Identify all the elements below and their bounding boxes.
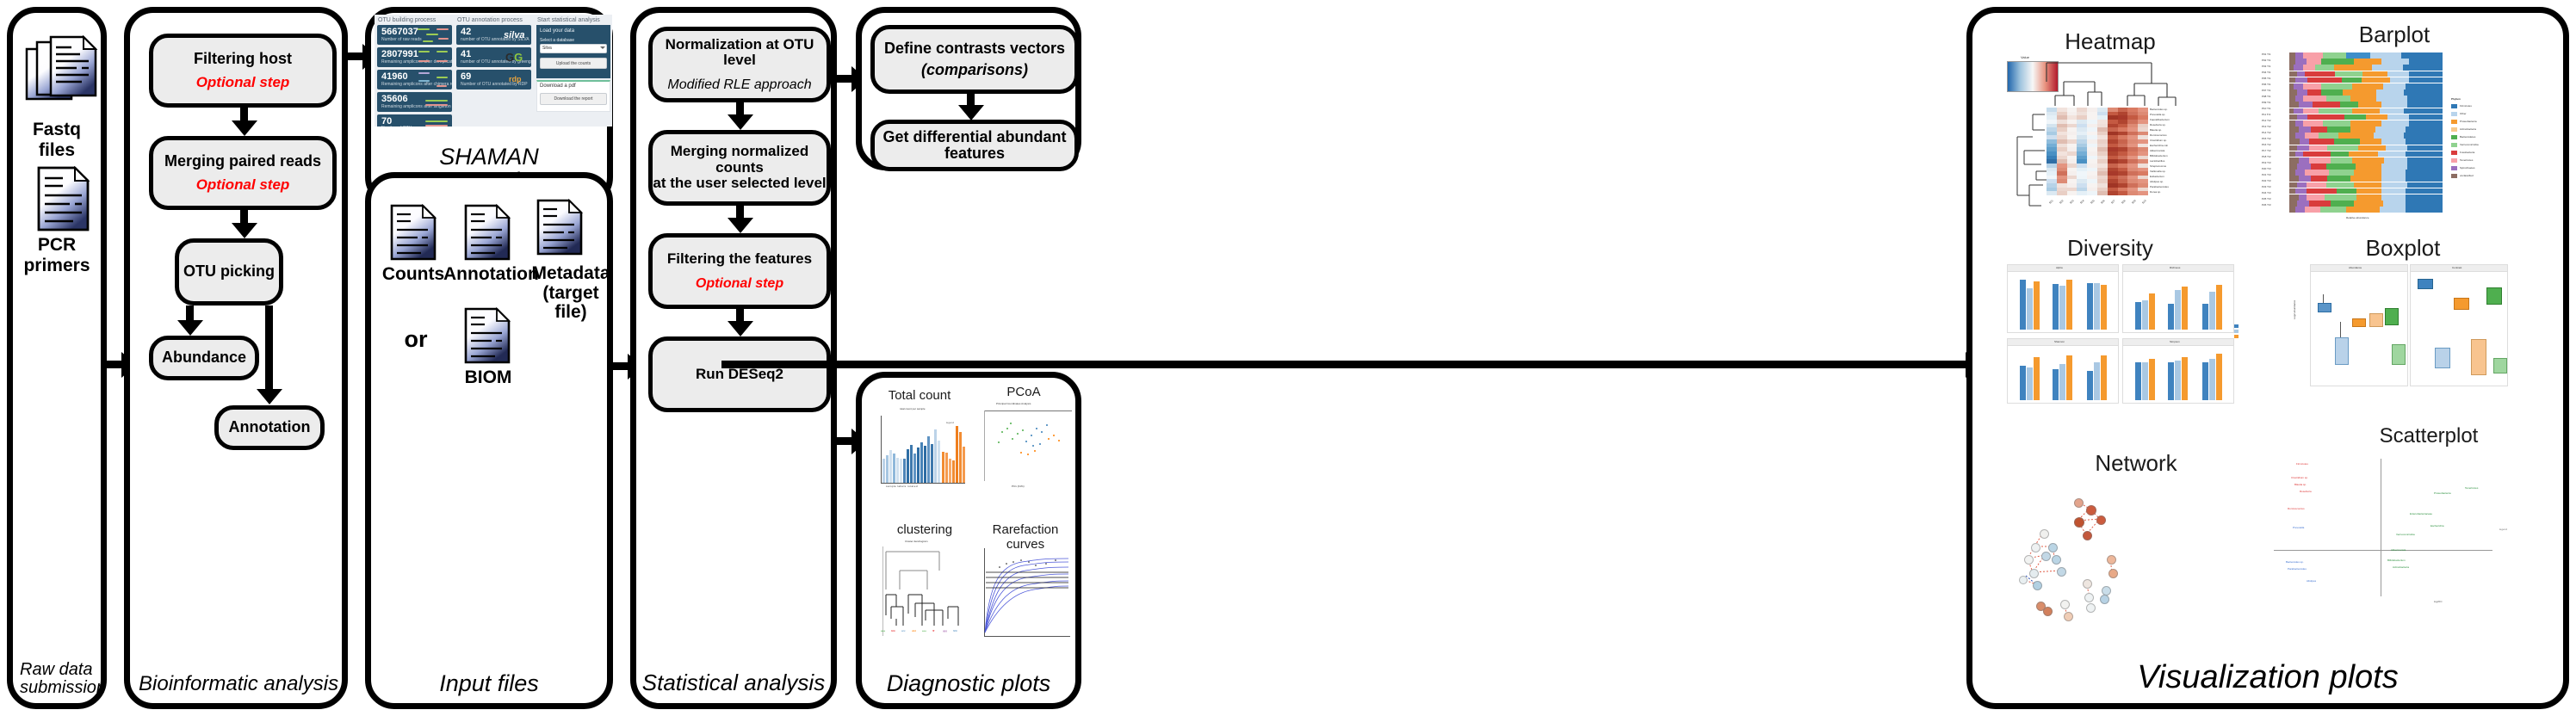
shaman-select-label: Select a database (540, 38, 574, 43)
plot-title-clustering: clustering (877, 522, 972, 537)
plot-pcoa: Principal Coordinates Analysis PC1 (31%) (972, 402, 1075, 502)
biom-file-icon (464, 307, 511, 364)
step-abundance: Abundance (149, 336, 259, 380)
barplot-legend: Phylum Firmicutes Other Proteobacteria A… (2451, 97, 2520, 175)
shaman-otu-card: 41960 Remaining amplicons after chimera … (377, 70, 452, 89)
or-label: or (390, 326, 442, 353)
step-title: Define contrasts vectors (884, 40, 1065, 57)
pcr-label-line2: primers (13, 256, 101, 276)
greengenes-logo-icon: GG (505, 50, 531, 65)
silva-logo-icon: silva (504, 28, 531, 43)
step-sub: Optional step (196, 177, 290, 193)
plot-title-network: Network (2050, 450, 2222, 477)
panel-label-raw-data: Raw data submission (13, 661, 101, 696)
metadata-label-line1: Metadata (526, 264, 616, 284)
metadata-file-icon (536, 199, 583, 256)
card-value: 2807991 (381, 50, 418, 59)
arrow-normalization-to-merging (736, 102, 744, 115)
heatmap-row-labels: Bacteroides sp. Prevotella sp. Faecaliba… (2150, 108, 2196, 195)
step-title: Annotation (229, 419, 311, 435)
plot-title-heatmap: Heatmap (2007, 28, 2214, 55)
workflow-diagram: Fastq files (0, 0, 2576, 716)
arrow-statistical-to-diagnostic (837, 437, 852, 445)
panel-label-visualization: Visualization plots (1972, 661, 2563, 694)
shaman-otu-card: 70 Number of OTU (377, 114, 452, 127)
pcr-label-line1: PCR (13, 235, 101, 256)
annotation-file-icon (464, 204, 511, 261)
arrow-merging-to-filtering (736, 206, 744, 219)
step-run-deseq2: Run DESeq2 (648, 336, 831, 412)
panel-visualization-plots: Heatmap Value (1966, 7, 2569, 709)
plot-barplot: P01 Tr1 P02 Tr1 P03 Tr1 P04 Tr1 P05 Tr1 … (2257, 51, 2541, 226)
fastq-files-label: Fastq files (13, 120, 101, 161)
plot-title-pcoa: PCoA (972, 385, 1075, 399)
heatmap-cells (2047, 108, 2148, 195)
arrow-contrasts-to-differential (967, 94, 975, 106)
counts-file-label: Counts (378, 264, 449, 285)
shaman-col-title-otu: OTU building process (378, 17, 436, 23)
step-define-contrasts: Define contrasts vectors (comparisons) (870, 25, 1079, 94)
shaman-otu-card: 35606 Remaining amplicons after singleto… (377, 92, 452, 112)
arrow-otu-to-annotation (265, 306, 273, 390)
arrow-merging-to-otu (240, 210, 248, 224)
shaman-load-heading: Load your data (540, 28, 574, 34)
card-value: 35606 (381, 95, 408, 104)
fastq-files-icon (25, 35, 104, 114)
plot-title-scatterplot: Scatterplot (2343, 424, 2515, 448)
arrow-bioinformatic-to-shaman (348, 52, 363, 60)
chevron-down-icon (600, 46, 605, 49)
step-otu-picking: OTU picking (175, 238, 283, 306)
step-title: Merging paired reads (164, 153, 321, 170)
heatmap-col-labels: S01 S02 S03 S04 S05 S06 S07 S08 S09 S10 (2047, 199, 2158, 225)
step-filtering-features: Filtering the features Optional step (648, 233, 831, 309)
plot-title-diversity: Diversity (2016, 235, 2205, 262)
arrow-filtering-to-deseq2 (736, 309, 744, 322)
plot-rarefaction (974, 543, 1075, 653)
step-title: Run DESeq2 (696, 367, 783, 382)
step-filtering-host: Filtering host Optional step (149, 34, 337, 108)
shaman-screenshot: OTU building process OTU annotation proc… (375, 15, 612, 127)
step-annotation: Annotation (214, 405, 325, 450)
panel-statistical-analysis: Normalization at OTU level Modified RLE … (630, 7, 837, 709)
shaman-download-heading: Download a pdf (540, 83, 576, 89)
plot-clustering: Cluster dendrogram aaa bbb (874, 540, 974, 653)
panel-label-statistical: Statistical analysis (636, 671, 831, 694)
shaman-otu-card: 5667037 Number of raw reads (377, 25, 452, 45)
card-value: 41960 (381, 72, 408, 82)
shaman-col-title-stats: Start statistical analysis (537, 17, 600, 23)
panel-label-input-files: Input files (371, 672, 607, 696)
shaman-col-title-annot: OTU annotation process (457, 17, 523, 23)
step-title: Merging normalized counts at the user se… (653, 144, 827, 191)
arrow-raw-to-bioinformatic (107, 361, 122, 368)
plot-boxplot: Abundance Contrast Log2 abunda (2291, 264, 2515, 410)
plot-heatmap: Value (1998, 54, 2239, 226)
plot-scatterplot: Firmicutes Clostridium sp. Blautia sp. R… (2265, 450, 2523, 639)
step-title: Get differential abundant features (882, 129, 1066, 163)
step-sub: Optional step (196, 75, 290, 90)
step-title: OTU picking (183, 263, 275, 280)
metadata-file-label: Metadata (target file) (526, 264, 616, 323)
panel-contrasts: Define contrasts vectors (comparisons) G… (856, 7, 1081, 170)
barplot-stacked-bars (2289, 52, 2443, 213)
plot-title-barplot: Barplot (2291, 22, 2498, 48)
arrow-statistical-to-contrasts (837, 75, 852, 83)
step-title: Normalization at OTU level (653, 37, 827, 69)
step-title: Filtering host (194, 51, 292, 67)
step-normalization: Normalization at OTU level Modified RLE … (648, 27, 831, 102)
shaman-download-button[interactable]: Download the report (540, 93, 607, 105)
metadata-label-line2: (target file) (526, 284, 616, 323)
silva-logo-icon (532, 27, 533, 28)
step-title: Abundance (162, 349, 246, 366)
plot-title-total-count: Total count (872, 388, 967, 403)
panel-label-bioinformatic: Bioinformatic analysis (130, 674, 342, 694)
shaman-upload-button[interactable]: Upload the counts (540, 58, 607, 69)
step-sub: Modified RLE approach (667, 77, 811, 92)
plot-title-boxplot: Boxplot (2317, 235, 2489, 262)
step-merging-paired-reads: Merging paired reads Optional step (149, 136, 337, 210)
annotation-file-label: Annotation (443, 264, 533, 285)
step-sub: (comparisons) (921, 62, 1028, 78)
pcr-primers-label: PCR primers (13, 235, 101, 275)
arrow-filtering-to-merging (240, 108, 248, 121)
counts-file-icon (390, 204, 437, 261)
plot-network (2003, 476, 2245, 670)
panel-bioinformatic-analysis: Filtering host Optional step Merging pai… (124, 7, 348, 709)
arrow-otu-to-abundance (186, 306, 194, 321)
barplot-sample-labels: P01 Tr1 P02 Tr1 P03 Tr1 P04 Tr1 P05 Tr1 … (2257, 52, 2288, 213)
shaman-select-value: Silva (542, 46, 552, 51)
card-value: 42 (461, 28, 471, 37)
plot-diversity: Alpha Richness (1993, 264, 2241, 410)
shaman-otu-card: 2807991 Remaining amplicons after derepl… (377, 47, 452, 67)
step-title: Filtering the features (667, 251, 812, 267)
pcr-primers-icon (37, 166, 90, 231)
panel-diagnostic-plots: Total count total count per sample (856, 372, 1081, 709)
plot-total-count: total count per sample (874, 405, 969, 502)
arrow-statistical-to-visualization (721, 361, 1966, 368)
panel-input-files: Counts Annotation Metadata (target file)… (365, 172, 613, 709)
card-value: 5667037 (381, 28, 418, 37)
card-value: 41 (461, 50, 471, 59)
panel-raw-data: Fastq files (7, 7, 107, 709)
card-caption: Number of raw reads (381, 38, 422, 42)
biom-file-label: BIOM (443, 367, 533, 388)
step-get-differential-features: Get differential abundant features (870, 120, 1079, 171)
rdp-logo-icon: rdp (509, 71, 531, 87)
card-value: 69 (461, 72, 471, 82)
step-merging-normalized-counts: Merging normalized counts at the user se… (648, 130, 831, 206)
arrow-inputs-to-statistical (613, 362, 629, 370)
step-sub: Optional step (696, 276, 783, 291)
panel-label-diagnostic: Diagnostic plots (862, 672, 1075, 696)
